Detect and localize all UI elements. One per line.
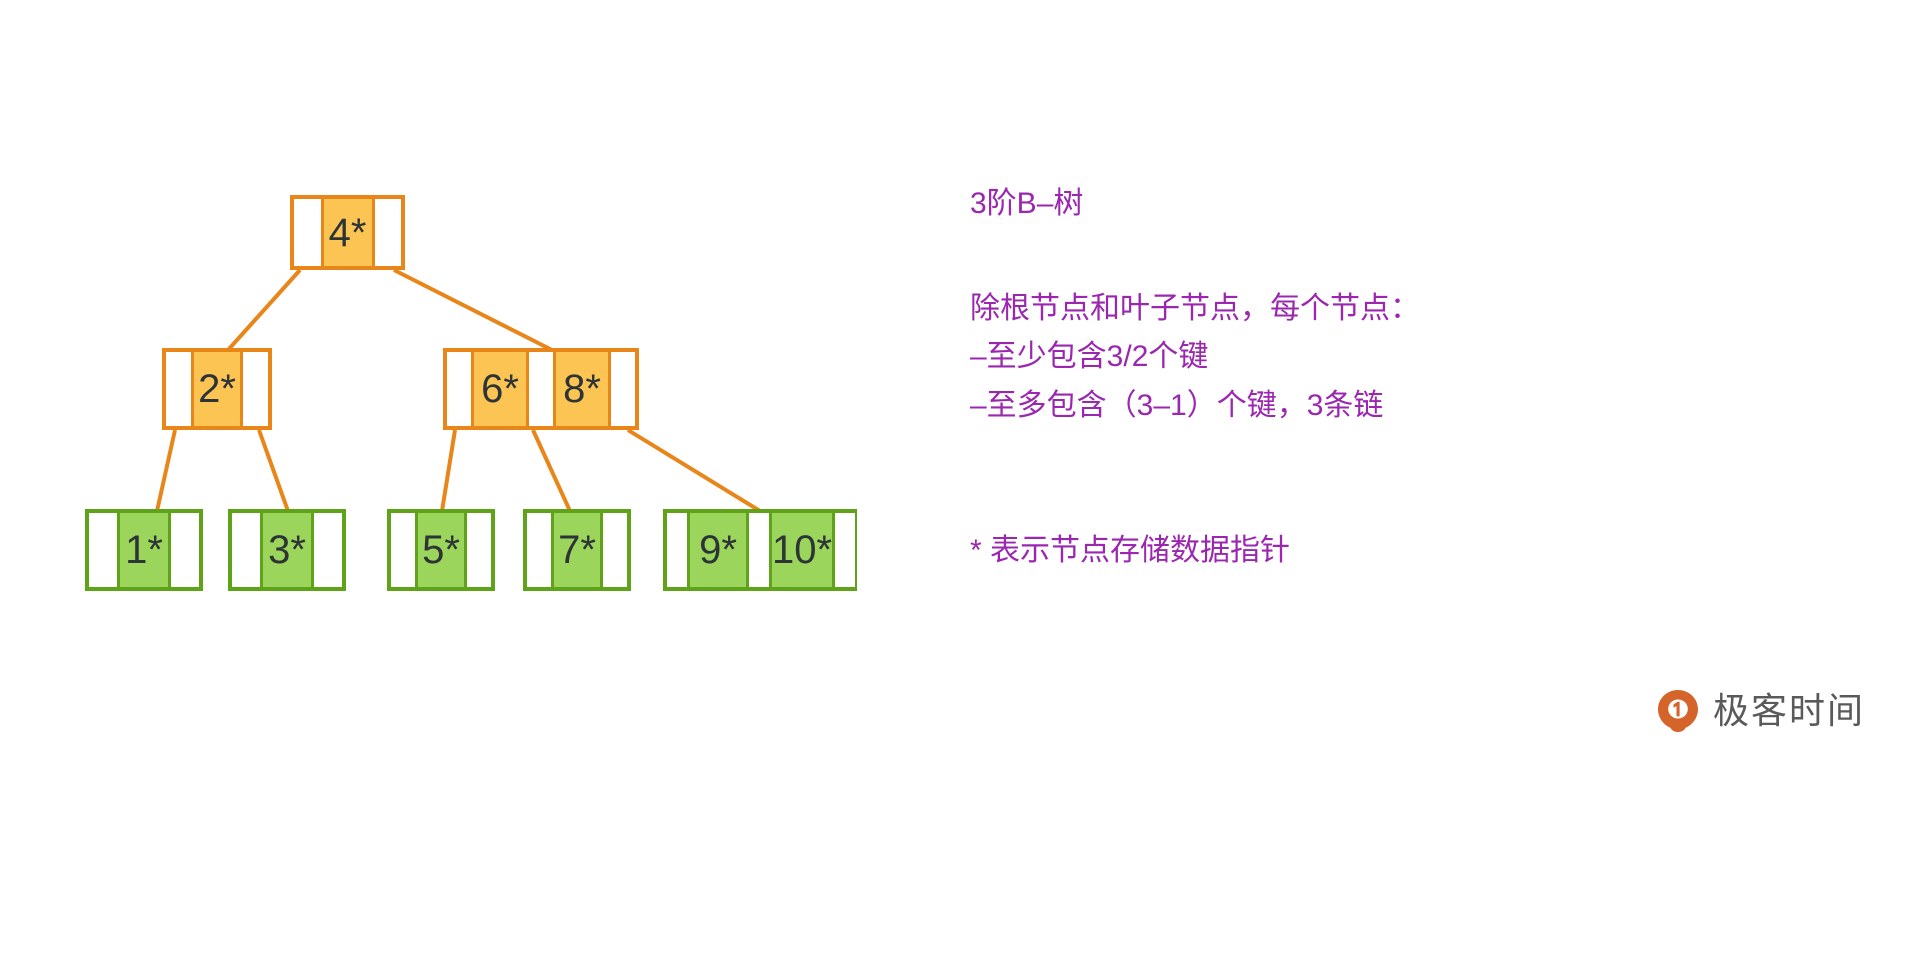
- brand-logo: 极客时间: [1655, 688, 1865, 734]
- node-pointer-cell: [232, 513, 260, 587]
- node-key-cell: 7*: [551, 513, 603, 587]
- edge-root-to-2: [228, 270, 300, 350]
- node-key-cell: 1*: [117, 513, 171, 587]
- node-pointer-cell: [314, 513, 342, 587]
- edge-6-8-to-7: [533, 430, 570, 511]
- edge-2-to-1: [157, 430, 175, 511]
- diagram-title: 3阶B–树: [970, 185, 1670, 223]
- btree-node-internal-2: 2*: [162, 348, 272, 430]
- edge-6-8-to-9-10: [628, 430, 760, 511]
- btree-node-leaf-5: 5*: [387, 509, 495, 591]
- node-key-cell: 5*: [415, 513, 467, 587]
- node-key-cell: 4*: [321, 199, 375, 266]
- rules-block: 除根节点和叶子节点，每个节点： –至少包含3/2个键 –至多包含（3–1）个键，…: [970, 285, 1670, 431]
- edge-6-8-to-5: [442, 430, 455, 511]
- node-key-cell: 6*: [471, 352, 529, 426]
- diagram-canvas: 4*2*6*8*1*3*5*7*9*10* 3阶B–树 除根节点和叶子节点，每个…: [0, 0, 1920, 961]
- node-pointer-cell: [391, 513, 415, 587]
- edge-root-to-6-8: [394, 270, 552, 350]
- annotation-panel: 3阶B–树 除根节点和叶子节点，每个节点： –至少包含3/2个键 –至多包含（3…: [970, 185, 1670, 430]
- btree-node-leaf-7: 7*: [523, 509, 631, 591]
- node-key-cell: 2*: [191, 352, 243, 426]
- node-pointer-cell: [529, 352, 553, 426]
- node-pointer-cell: [166, 352, 191, 426]
- legend-note: * 表示节点存储数据指针: [970, 531, 1290, 570]
- btree-node-root: 4*: [290, 195, 405, 270]
- tree-edges: [0, 0, 1920, 961]
- btree-node-internal-6-8: 6*8*: [443, 348, 639, 430]
- node-key-cell: 10*: [769, 513, 835, 587]
- edge-2-to-3: [259, 430, 288, 511]
- btree-node-leaf-9-10: 9*10*: [663, 509, 857, 591]
- node-pointer-cell: [527, 513, 551, 587]
- node-pointer-cell: [611, 352, 635, 426]
- brand-wordmark: 极客时间: [1713, 693, 1865, 729]
- rule-max-keys: –至多包含（3–1）个键，3条链: [970, 382, 1670, 431]
- btree-node-leaf-3: 3*: [228, 509, 346, 591]
- node-pointer-cell: [89, 513, 117, 587]
- node-key-cell: 3*: [260, 513, 314, 587]
- node-pointer-cell: [171, 513, 199, 587]
- node-pointer-cell: [667, 513, 687, 587]
- node-pointer-cell: [603, 513, 627, 587]
- node-key-cell: 9*: [687, 513, 749, 587]
- node-pointer-cell: [243, 352, 268, 426]
- btree-node-leaf-1: 1*: [85, 509, 203, 591]
- node-pointer-cell: [467, 513, 491, 587]
- geekbang-pin-icon: [1655, 688, 1701, 734]
- node-pointer-cell: [375, 199, 402, 266]
- node-pointer-cell: [749, 513, 769, 587]
- node-key-cell: 8*: [553, 352, 611, 426]
- rules-heading: 除根节点和叶子节点，每个节点：: [970, 285, 1670, 334]
- node-pointer-cell: [294, 199, 321, 266]
- node-pointer-cell: [835, 513, 855, 587]
- rule-min-keys: –至少包含3/2个键: [970, 333, 1670, 382]
- node-pointer-cell: [447, 352, 471, 426]
